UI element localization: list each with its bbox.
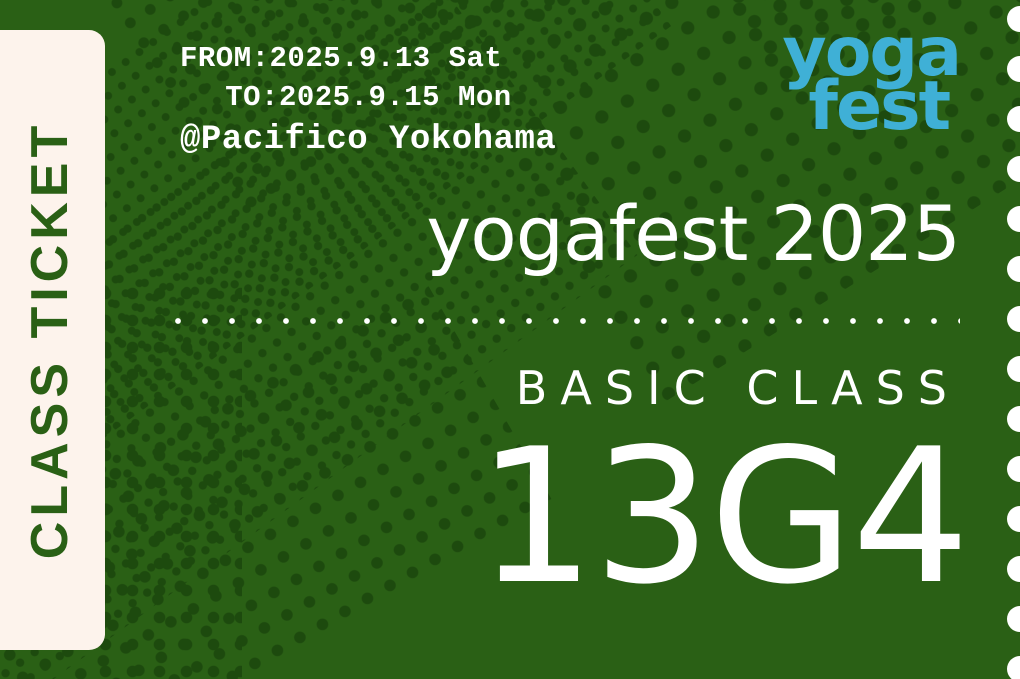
perforation-hole	[1007, 56, 1020, 82]
ticket-stub: CLASS TICKET	[0, 30, 105, 650]
perforation-hole	[1007, 6, 1020, 32]
perforation-hole	[1007, 356, 1020, 382]
class-name: BASIC CLASS	[105, 365, 960, 411]
perforation-hole	[1007, 556, 1020, 582]
perforation-hole	[1007, 506, 1020, 532]
dotted-divider	[175, 318, 960, 324]
perforation-hole	[1007, 406, 1020, 432]
perforation-hole	[1007, 656, 1020, 679]
seat-code: 13G4	[105, 424, 968, 610]
class-ticket: CLASS TICKET FROM:2025.9.13 Sat TO:2025.…	[0, 0, 1020, 679]
perforation-hole	[1007, 606, 1020, 632]
event-date-to: TO:2025.9.15 Mon	[180, 79, 556, 118]
logo-line-fest: fest	[782, 80, 960, 134]
perforation-hole	[1007, 206, 1020, 232]
stub-label: CLASS TICKET	[25, 121, 77, 559]
event-details: FROM:2025.9.13 Sat TO:2025.9.15 Mon @Pac…	[180, 40, 556, 165]
perforation-hole	[1007, 106, 1020, 132]
perforation-hole	[1007, 156, 1020, 182]
ticket-face: FROM:2025.9.13 Sat TO:2025.9.15 Mon @Pac…	[105, 0, 1020, 679]
perforation-hole	[1007, 456, 1020, 482]
perforation-hole	[1007, 306, 1020, 332]
event-title: yogafest 2025	[105, 196, 960, 272]
event-venue: @Pacifico Yokohama	[180, 117, 556, 165]
yogafest-logo: yoga fest	[782, 26, 960, 135]
perforation-hole	[1007, 256, 1020, 282]
perforation-edge	[994, 0, 1020, 679]
event-date-from: FROM:2025.9.13 Sat	[180, 40, 556, 79]
